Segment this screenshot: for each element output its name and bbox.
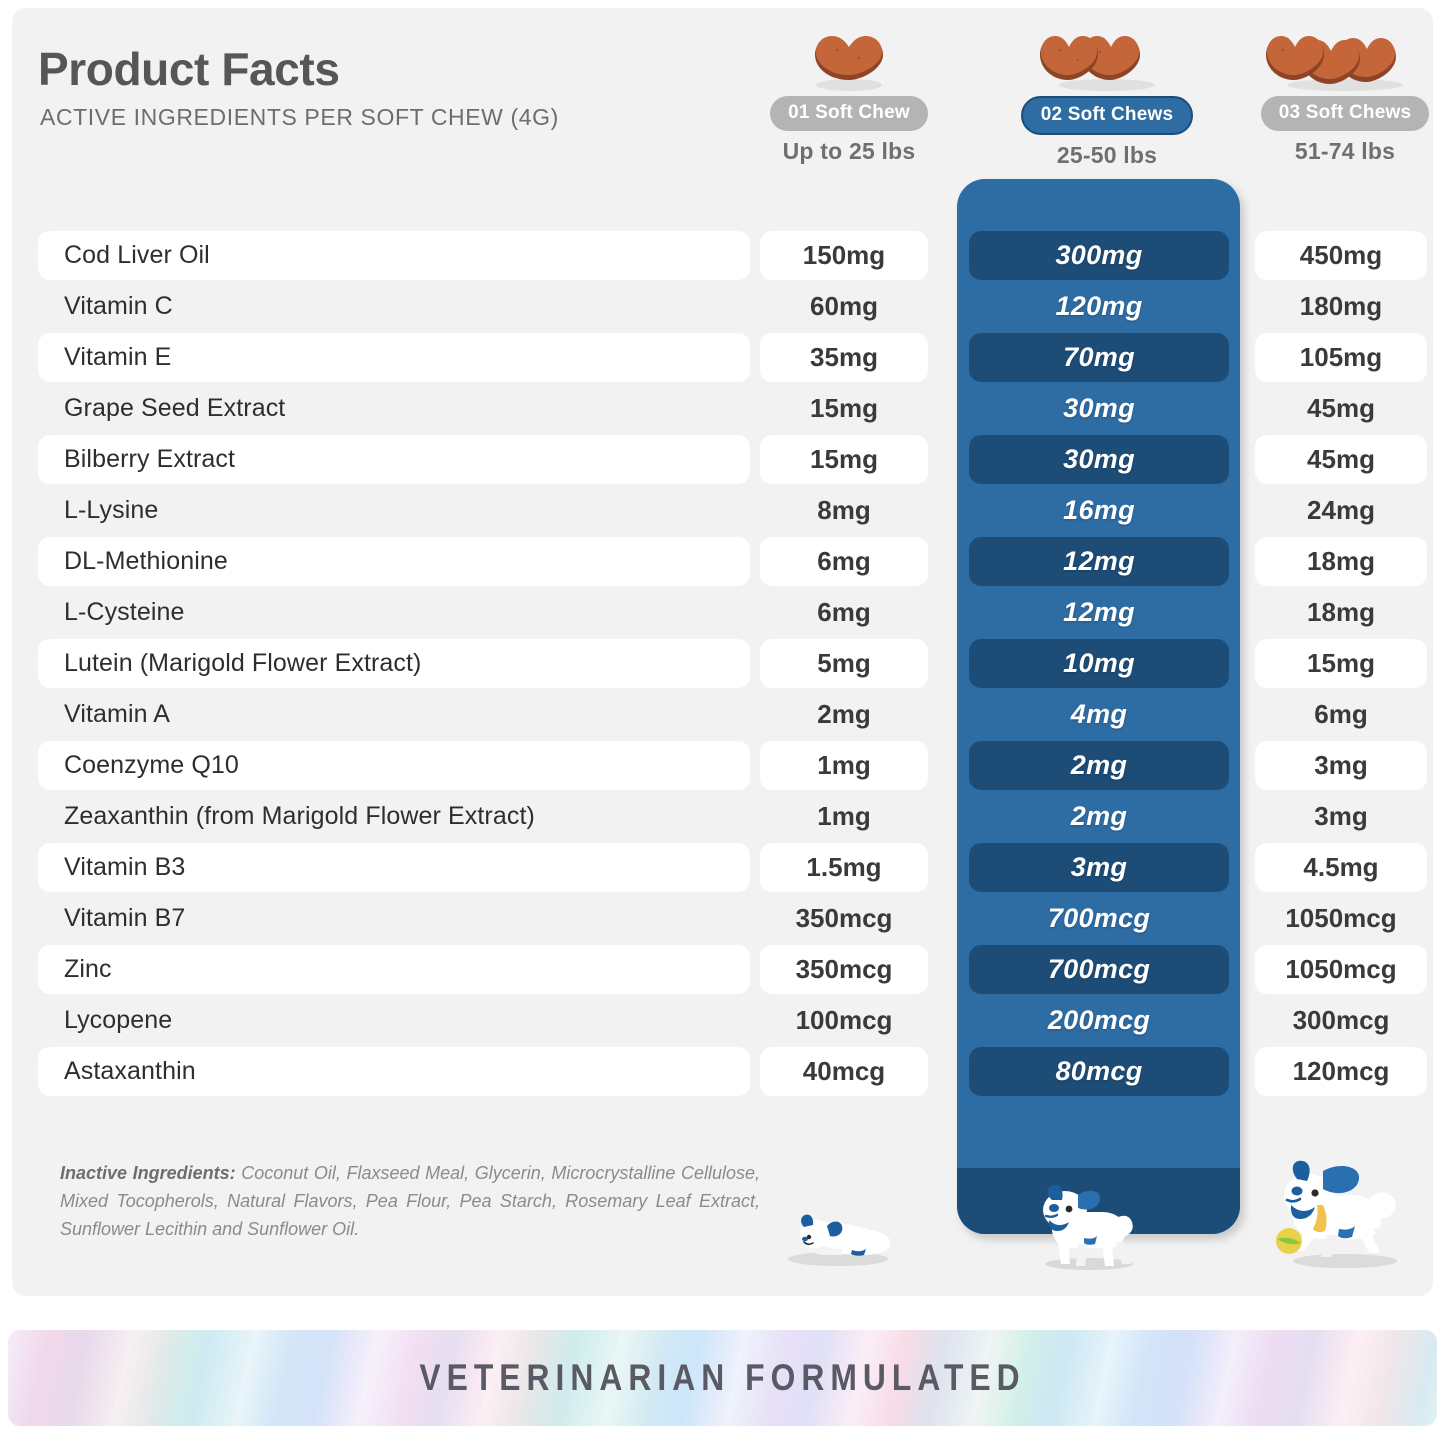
dose-cell-col1: 6mg	[760, 537, 928, 586]
ingredient-name-cell: L-Lysine	[38, 486, 750, 535]
ingredient-name: Grape Seed Extract	[64, 394, 285, 423]
dose-value: 45mg	[1307, 444, 1375, 475]
dose-cell-col3: 24mg	[1255, 486, 1427, 535]
dose-cell-col1: 1.5mg	[760, 843, 928, 892]
ingredient-name: Cod Liver Oil	[64, 241, 210, 270]
dose-value: 45mg	[1307, 393, 1375, 424]
dose-cell-col2: 120mg	[969, 282, 1229, 331]
page-subtitle: ACTIVE INGREDIENTS PER SOFT CHEW (4G)	[40, 104, 559, 131]
soft-chew-icon-group-3	[1230, 26, 1445, 92]
dose-value: 40mcg	[803, 1056, 885, 1087]
dose-cell-col1: 1mg	[760, 792, 928, 841]
dose-cell-col3: 6mg	[1255, 690, 1427, 739]
product-facts-infographic: Product Facts ACTIVE INGREDIENTS PER SOF…	[0, 0, 1445, 1438]
table-row: L-Lysine8mg16mg24mg	[12, 485, 1433, 536]
dose-value: 2mg	[1071, 801, 1127, 832]
dose-value: 6mg	[817, 546, 870, 577]
dose-cell-col3: 300mcg	[1255, 996, 1427, 1045]
ingredient-name-cell: Vitamin A	[38, 690, 750, 739]
soft-chew-icon-group-2	[992, 26, 1222, 92]
dose-value: 80mcg	[1055, 1056, 1142, 1087]
ingredient-name-cell: Coenzyme Q10	[38, 741, 750, 790]
dose-value: 180mg	[1300, 291, 1382, 322]
dose-value: 12mg	[1063, 546, 1135, 577]
dose-value: 16mg	[1063, 495, 1135, 526]
dose-cell-col3: 180mg	[1255, 282, 1427, 331]
table-row: Vitamin B7350mcg700mcg1050mcg	[12, 893, 1433, 944]
dose-value: 10mg	[1063, 648, 1135, 679]
chew-count-badge: 03 Soft Chews	[1261, 96, 1429, 131]
dose-value: 1.5mg	[806, 852, 881, 883]
ingredient-name: Bilberry Extract	[64, 445, 235, 474]
dose-cell-col3: 105mg	[1255, 333, 1427, 382]
dose-value: 12mg	[1063, 597, 1135, 628]
table-row: Lycopene100mcg200mcg300mcg	[12, 995, 1433, 1046]
dose-value: 1mg	[817, 801, 870, 832]
dose-cell-col2: 70mg	[969, 333, 1229, 382]
weight-range-label: 25-50 lbs	[992, 142, 1222, 169]
dose-cell-col3: 450mg	[1255, 231, 1427, 280]
dose-value: 3mg	[1071, 852, 1127, 883]
ingredient-name-cell: DL-Methionine	[38, 537, 750, 586]
ingredient-name-cell: Vitamin B7	[38, 894, 750, 943]
dose-cell-col1: 2mg	[760, 690, 928, 739]
ingredient-name: L-Cysteine	[64, 598, 185, 627]
dose-cell-col3: 15mg	[1255, 639, 1427, 688]
dose-value: 8mg	[817, 495, 870, 526]
ingredient-name: Astaxanthin	[64, 1057, 196, 1086]
dose-value: 100mcg	[796, 1005, 893, 1036]
table-row: Astaxanthin40mcg80mcg120mcg	[12, 1046, 1433, 1097]
ingredient-name: Zinc	[64, 955, 112, 984]
ingredient-name-cell: Lycopene	[38, 996, 750, 1045]
table-row: Bilberry Extract15mg30mg45mg	[12, 434, 1433, 485]
dose-cell-col2: 12mg	[969, 588, 1229, 637]
dose-value: 5mg	[817, 648, 870, 679]
dose-cell-col3: 4.5mg	[1255, 843, 1427, 892]
veterinarian-formulated-banner: VETERINARIAN FORMULATED	[8, 1330, 1437, 1426]
dose-value: 2mg	[817, 699, 870, 730]
dose-value: 24mg	[1307, 495, 1375, 526]
table-row: Grape Seed Extract15mg30mg45mg	[12, 383, 1433, 434]
inactive-ingredients-label: Inactive Ingredients:	[60, 1163, 236, 1183]
dose-cell-col2: 300mg	[969, 231, 1229, 280]
dose-cell-col2: 700mcg	[969, 894, 1229, 943]
dose-value: 3mg	[1314, 801, 1367, 832]
dose-cell-col1: 15mg	[760, 435, 928, 484]
banner-label: VETERINARIAN FORMULATED	[419, 1357, 1025, 1399]
dose-cell-col2: 12mg	[969, 537, 1229, 586]
table-row: Zinc350mcg700mcg1050mcg	[12, 944, 1433, 995]
dose-value: 105mg	[1300, 342, 1382, 373]
dose-value: 4.5mg	[1303, 852, 1378, 883]
dose-cell-col1: 350mcg	[760, 894, 928, 943]
ingredient-name-cell: Vitamin B3	[38, 843, 750, 892]
ingredient-name: DL-Methionine	[64, 547, 228, 576]
dog-running-with-ball-icon	[1267, 1153, 1417, 1276]
dose-value: 120mg	[1055, 291, 1142, 322]
ingredient-name: Vitamin B7	[64, 904, 185, 933]
dose-cell-col2: 30mg	[969, 435, 1229, 484]
dose-value: 15mg	[1307, 648, 1375, 679]
dose-cell-col1: 15mg	[760, 384, 928, 433]
dose-value: 2mg	[1071, 750, 1127, 781]
dose-value: 1mg	[817, 750, 870, 781]
dose-cell-col2: 2mg	[969, 741, 1229, 790]
ingredient-name: Vitamin C	[64, 292, 173, 321]
ingredient-name: Lycopene	[64, 1006, 172, 1035]
dose-cell-col3: 3mg	[1255, 792, 1427, 841]
chew-count-badge: 02 Soft Chews	[1021, 96, 1193, 135]
ingredient-name-cell: Bilberry Extract	[38, 435, 750, 484]
ingredient-name: Zeaxanthin (from Marigold Flower Extract…	[64, 802, 535, 831]
dose-cell-col3: 1050mcg	[1255, 945, 1427, 994]
dose-value: 450mg	[1300, 240, 1382, 271]
ingredient-name-cell: Vitamin E	[38, 333, 750, 382]
dose-cell-col1: 1mg	[760, 741, 928, 790]
dose-cell-col2: 4mg	[969, 690, 1229, 739]
ingredient-name-cell: Lutein (Marigold Flower Extract)	[38, 639, 750, 688]
dose-cell-col3: 120mcg	[1255, 1047, 1427, 1096]
ingredient-name: Vitamin E	[64, 343, 171, 372]
dose-value: 35mg	[810, 342, 878, 373]
dose-cell-col1: 40mcg	[760, 1047, 928, 1096]
dose-value: 30mg	[1063, 393, 1135, 424]
ingredient-name-cell: Zeaxanthin (from Marigold Flower Extract…	[38, 792, 750, 841]
chew-count-badge: 01 Soft Chew	[770, 96, 928, 131]
dose-cell-col1: 35mg	[760, 333, 928, 382]
dose-cell-col3: 3mg	[1255, 741, 1427, 790]
ingredient-name: Lutein (Marigold Flower Extract)	[64, 649, 421, 678]
dose-value: 700mcg	[1048, 954, 1150, 985]
table-row: Zeaxanthin (from Marigold Flower Extract…	[12, 791, 1433, 842]
dose-cell-col2: 2mg	[969, 792, 1229, 841]
column-header-3: 03 Soft Chews 51-74 lbs	[1230, 26, 1445, 165]
dose-value: 120mcg	[1293, 1056, 1390, 1087]
dose-cell-col1: 150mg	[760, 231, 928, 280]
dose-value: 150mg	[803, 240, 885, 271]
ingredient-name-cell: Zinc	[38, 945, 750, 994]
weight-range-label: 51-74 lbs	[1230, 138, 1445, 165]
dose-cell-col3: 45mg	[1255, 384, 1427, 433]
dose-cell-col1: 5mg	[760, 639, 928, 688]
dose-value: 30mg	[1063, 444, 1135, 475]
ingredient-name: Vitamin B3	[64, 853, 185, 882]
dose-value: 1050mcg	[1285, 954, 1396, 985]
column-header-1: 01 Soft Chew Up to 25 lbs	[734, 26, 964, 165]
dose-cell-col3: 45mg	[1255, 435, 1427, 484]
dose-value: 18mg	[1307, 546, 1375, 577]
dose-value: 700mcg	[1048, 903, 1150, 934]
table-row: Vitamin E35mg70mg105mg	[12, 332, 1433, 383]
dose-value: 70mg	[1063, 342, 1135, 373]
dose-cell-col2: 10mg	[969, 639, 1229, 688]
dose-value: 6mg	[817, 597, 870, 628]
dose-cell-col3: 18mg	[1255, 537, 1427, 586]
ingredient-name-cell: Cod Liver Oil	[38, 231, 750, 280]
dose-cell-col1: 60mg	[760, 282, 928, 331]
dose-cell-col2: 80mcg	[969, 1047, 1229, 1096]
dose-cell-col1: 350mcg	[760, 945, 928, 994]
soft-chew-icon-group-1	[734, 26, 964, 92]
dog-walking-icon	[1032, 1176, 1147, 1277]
dose-cell-col1: 8mg	[760, 486, 928, 535]
table-row: Vitamin C60mg120mg180mg	[12, 281, 1433, 332]
dose-value: 15mg	[810, 393, 878, 424]
dose-value: 4mg	[1071, 699, 1127, 730]
ingredient-name: Coenzyme Q10	[64, 751, 239, 780]
dose-value: 1050mcg	[1285, 903, 1396, 934]
dose-value: 200mcg	[1048, 1005, 1150, 1036]
ingredients-table: Cod Liver Oil150mg300mg450mgVitamin C60m…	[12, 230, 1433, 1097]
dose-cell-col2: 30mg	[969, 384, 1229, 433]
dose-cell-col2: 700mcg	[969, 945, 1229, 994]
dose-value: 350mcg	[796, 954, 893, 985]
dose-cell-col3: 1050mcg	[1255, 894, 1427, 943]
page-title: Product Facts	[38, 42, 340, 96]
table-row: DL-Methionine6mg12mg18mg	[12, 536, 1433, 587]
dose-value: 18mg	[1307, 597, 1375, 628]
ingredient-name: Vitamin A	[64, 700, 170, 729]
table-row: L-Cysteine6mg12mg18mg	[12, 587, 1433, 638]
ingredient-name-cell: Grape Seed Extract	[38, 384, 750, 433]
dose-value: 300mg	[1055, 240, 1142, 271]
dose-cell-col2: 200mcg	[969, 996, 1229, 1045]
facts-card: Product Facts ACTIVE INGREDIENTS PER SOF…	[12, 8, 1433, 1296]
ingredient-name-cell: Vitamin C	[38, 282, 750, 331]
weight-range-label: Up to 25 lbs	[734, 138, 964, 165]
dose-cell-col1: 100mcg	[760, 996, 928, 1045]
dose-cell-col2: 3mg	[969, 843, 1229, 892]
ingredient-name: L-Lysine	[64, 496, 158, 525]
dose-value: 3mg	[1314, 750, 1367, 781]
table-row: Lutein (Marigold Flower Extract)5mg10mg1…	[12, 638, 1433, 689]
table-row: Vitamin A2mg4mg6mg	[12, 689, 1433, 740]
table-row: Vitamin B31.5mg3mg4.5mg	[12, 842, 1433, 893]
dose-cell-col1: 6mg	[760, 588, 928, 637]
dose-value: 6mg	[1314, 699, 1367, 730]
ingredient-name-cell: L-Cysteine	[38, 588, 750, 637]
dose-cell-col3: 18mg	[1255, 588, 1427, 637]
dose-cell-col2: 16mg	[969, 486, 1229, 535]
column-header-2: 02 Soft Chews 25-50 lbs	[992, 26, 1222, 169]
dose-value: 60mg	[810, 291, 878, 322]
dose-value: 300mcg	[1293, 1005, 1390, 1036]
inactive-ingredients-note: Inactive Ingredients: Coconut Oil, Flaxs…	[60, 1160, 760, 1244]
table-row: Coenzyme Q101mg2mg3mg	[12, 740, 1433, 791]
dose-value: 15mg	[810, 444, 878, 475]
dose-value: 350mcg	[796, 903, 893, 934]
table-row: Cod Liver Oil150mg300mg450mg	[12, 230, 1433, 281]
dog-lying-icon	[780, 1193, 900, 1272]
ingredient-name-cell: Astaxanthin	[38, 1047, 750, 1096]
